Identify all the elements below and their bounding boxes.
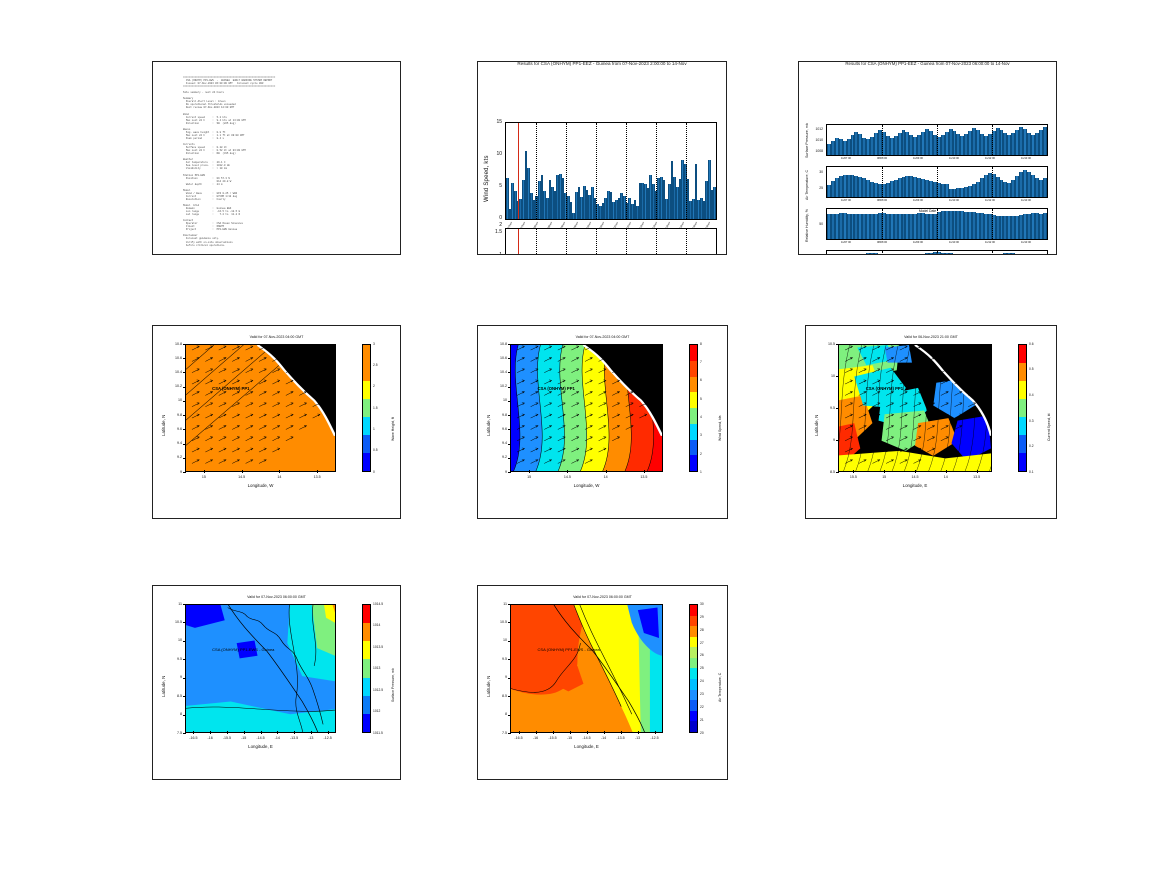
wave-height-map-colorbar-tick: 1: [373, 427, 375, 431]
gridline: [626, 123, 627, 219]
colorbar-segment: [363, 696, 370, 714]
current-speed-map-xtick: 14.5: [903, 475, 927, 479]
surface-pressure-map-axes[interactable]: [185, 604, 336, 733]
colorbar-segment: [690, 345, 697, 361]
air-temperature-map-panel: Valid for 07-Nov-2023 06:00:00 GMTCSA (O…: [477, 585, 728, 780]
tick-mark: [328, 731, 329, 734]
wind-speed-map-colorbar-tick: 6: [700, 378, 702, 382]
air-temperature-map-colorbar-tick: 30: [700, 602, 704, 606]
tick-mark: [508, 429, 511, 430]
colorbar-segment: [690, 605, 697, 616]
tick-mark: [567, 470, 568, 473]
surface-pressure-map-colorbar-tick: 1013.5: [373, 645, 383, 649]
met-ytick: 50: [807, 222, 823, 226]
tick-mark: [946, 470, 947, 473]
tick-mark: [553, 731, 554, 734]
colorbar-segment: [363, 641, 370, 659]
air-temperature-map-colorbar-label: Air Temperature, C: [718, 673, 722, 702]
colorbar-segment: [363, 714, 370, 732]
wave-height-map-colorbar: [362, 344, 371, 472]
wave-height-map-ytick: 10.2: [161, 384, 182, 388]
surface-pressure-map-title: Valid for 07-Nov-2023 06:00:00 GMT: [153, 595, 400, 599]
tick-mark: [183, 733, 186, 734]
colorbar-segment: [363, 363, 370, 381]
air-temperature-map-ytick: 9.5: [486, 657, 507, 661]
wind-speed-map-ytick: 10.6: [486, 356, 507, 360]
tick-mark: [604, 731, 605, 734]
tick-mark: [570, 731, 571, 734]
colorbar-segment: [363, 453, 370, 471]
tick-mark: [508, 358, 511, 359]
surface-pressure-map-colorbar-tick: 1014: [373, 623, 380, 627]
tick-mark: [277, 731, 278, 734]
tick-mark: [183, 472, 186, 473]
tick-mark: [606, 470, 607, 473]
current-speed-map-ytick: 9.5: [814, 406, 835, 410]
gridline: [686, 229, 687, 255]
wave-height-map-title: Valid for 07-Nov-2023 04:00 GMT: [153, 335, 400, 339]
wind-speed-map-colorbar-tick: 3: [700, 433, 702, 437]
gridline: [882, 209, 883, 239]
wind-speed-map-ytick: 9.2: [486, 455, 507, 459]
tick-mark: [915, 470, 916, 473]
current-speed-map-ytick: 9: [814, 438, 835, 442]
colorbar-segment: [363, 659, 370, 677]
tick-mark: [529, 470, 530, 473]
met-xlabel: Model Date: [799, 209, 1056, 213]
tick-mark: [508, 659, 511, 660]
met-xtick: 11/13 00: [1009, 241, 1043, 244]
wind-speed-map-ytick: 10.2: [486, 384, 507, 388]
surface-pressure-map-colorbar-label: Surface Pressure, mb: [391, 668, 395, 702]
tick-mark: [183, 358, 186, 359]
met-xtick: 11/09 00: [901, 157, 935, 160]
colorbar-segment: [1019, 417, 1026, 435]
air-temperature-map-colorbar-tick: 20: [700, 731, 704, 735]
wind-speed-map-ytick: 10.8: [486, 342, 507, 346]
tick-mark: [655, 731, 656, 734]
air-temperature-map-site-label: CSA (ONHYM) PP1-EWS - Guinea: [538, 647, 600, 652]
wind-ytick-3: 15: [488, 119, 502, 125]
gridline: [566, 123, 567, 219]
wave-height-map-xtick: 15: [192, 475, 216, 479]
gridline: [536, 229, 537, 255]
wave-height-map-colorbar-tick: 0.5: [373, 448, 378, 452]
wave-height-map-axes[interactable]: [185, 344, 336, 472]
bar: [1043, 127, 1047, 156]
wave-height-map-colorbar-tick: 2.5: [373, 363, 378, 367]
wave-height-map-ytick: 10.8: [161, 342, 182, 346]
air-temperature-map-colorbar-tick: 21: [700, 718, 704, 722]
colorbar-segment: [363, 399, 370, 417]
tick-mark: [317, 470, 318, 473]
colorbar-segment: [690, 361, 697, 377]
wave-height-map-xtick: 13.5: [305, 475, 329, 479]
met-xtick: 08/08 00: [865, 199, 899, 202]
air-temperature-map-xlabel: Longitude, E: [510, 744, 663, 749]
colorbar-segment: [690, 711, 697, 722]
bar: [1043, 178, 1047, 197]
wind-speed-map-xtick: 15: [517, 475, 541, 479]
wave-height-map-xtick: 14: [267, 475, 291, 479]
tick-mark: [508, 387, 511, 388]
wind-speed-map-colorbar-tick: 8: [700, 342, 702, 346]
wind-speed-map-ytick: 10: [486, 398, 507, 402]
tick-mark: [508, 733, 511, 734]
met-axes-1: [826, 166, 1048, 198]
tick-mark: [204, 470, 205, 473]
tick-mark: [884, 470, 885, 473]
colorbar-segment: [690, 679, 697, 690]
colorbar-segment: [1019, 435, 1026, 453]
tick-mark: [587, 731, 588, 734]
current-time-marker: [518, 229, 519, 255]
tick-mark: [508, 401, 511, 402]
tick-mark: [836, 440, 839, 441]
colorbar-segment: [690, 392, 697, 408]
colorbar-segment: [363, 345, 370, 363]
met-xtick: 11/09 00: [901, 241, 935, 244]
current-speed-map-axes[interactable]: [838, 344, 992, 472]
met-xtick: 11/07 00: [829, 241, 863, 244]
wave-height-map-ytick: 10.6: [161, 356, 182, 360]
met-ylabel: Air Temperature, C: [805, 170, 809, 200]
current-time-marker: [518, 123, 519, 219]
current-speed-map-ytick: 8.5: [814, 470, 835, 474]
bar: [1043, 213, 1047, 239]
surface-pressure-map-xlabel: Longitude, E: [185, 744, 336, 749]
tick-mark: [183, 458, 186, 459]
tick-mark: [183, 401, 186, 402]
wind-speed-map-ytick: 9: [486, 470, 507, 474]
wind-speed-map-panel: Valid for 07-Nov-2023 04:00 GMTCSA (ONHY…: [477, 325, 728, 519]
wind-speed-map-colorbar-tick: 5: [700, 397, 702, 401]
tick-mark: [227, 731, 228, 734]
colorbar-segment: [690, 658, 697, 669]
wind-speed-map-ytick: 9.4: [486, 441, 507, 445]
gridline: [937, 125, 938, 155]
bar-series: [506, 229, 716, 255]
met-axes-0: [826, 124, 1048, 156]
bar: [1000, 254, 1004, 255]
bar: [953, 254, 957, 255]
gridline: [882, 251, 883, 255]
gridline: [656, 123, 657, 219]
wave-height-map-colorbar-tick: 1.5: [373, 406, 378, 410]
bar: [713, 187, 716, 219]
tick-mark: [183, 387, 186, 388]
colorbar-segment: [690, 424, 697, 440]
gridline: [596, 123, 597, 219]
gridline: [686, 123, 687, 219]
surface-pressure-map-site-label: CSA (ONHYM) PP1-EWS - Guinea: [212, 647, 274, 652]
colorbar-segment: [690, 626, 697, 637]
colorbar-segment: [363, 381, 370, 399]
met-title: Results for CSA (ONHYM) PP1-EEZ - Guinea…: [799, 61, 1056, 66]
tick-mark: [183, 415, 186, 416]
gridline: [992, 167, 993, 197]
current-speed-map-colorbar-label: Current Speed, kt: [1047, 414, 1051, 441]
met-xtick: 11/12 00: [973, 241, 1007, 244]
colorbar-segment: [1019, 381, 1026, 399]
current-speed-map-colorbar: [1018, 344, 1027, 472]
current-speed-map-site-label: CSA (ONHYM) PP1: [866, 386, 903, 391]
current-speed-map-ytick: 10.5: [814, 342, 835, 346]
colorbar-segment: [1019, 363, 1026, 381]
tick-mark: [508, 604, 511, 605]
tick-mark: [508, 372, 511, 373]
tick-mark: [508, 678, 511, 679]
gridline: [992, 251, 993, 255]
wave-height-map-colorbar-label: Wave Height, ft: [391, 417, 395, 441]
wave-height-map-xtick: 14.5: [230, 475, 254, 479]
tick-mark: [508, 344, 511, 345]
wind-speed-map-xtick: 14: [594, 475, 618, 479]
tick-mark: [836, 472, 839, 473]
wind-speed-map-colorbar: [689, 344, 698, 472]
wind-speed-ylabel: Wind Speed, kts: [484, 155, 490, 202]
tick-mark: [508, 444, 511, 445]
tick-mark: [261, 731, 262, 734]
gridline: [882, 125, 883, 155]
wave-height-map-site-label: CSA (ONHYM) PP1: [212, 386, 249, 391]
met-xtick: 11/10 00: [937, 199, 971, 202]
air-temperature-map-title: Valid for 07-Nov-2023 06:00:00 GMT: [478, 595, 727, 599]
tick-mark: [242, 470, 243, 473]
wave-height-map-colorbar-tick: 0: [373, 470, 375, 474]
met-xtick: 11/10 00: [937, 241, 971, 244]
wave-height-map-ylabel: Latitude, N: [161, 415, 166, 436]
wave-height-map-colorbar-tick: 2: [373, 384, 375, 388]
tick-mark: [536, 731, 537, 734]
tick-mark: [508, 641, 511, 642]
tick-mark: [183, 696, 186, 697]
wave-ytick-3: 1.5: [486, 229, 502, 235]
wave-height-map-colorbar-tick: 3: [373, 342, 375, 346]
met-ytick: 1008: [807, 149, 823, 153]
current-speed-map-colorbar-tick: 0.3: [1029, 419, 1034, 423]
colorbar-segment: [363, 623, 370, 641]
gridline: [937, 167, 938, 197]
air-temperature-map-colorbar-tick: 22: [700, 705, 704, 709]
met-xtick: 11/12 00: [973, 199, 1007, 202]
gridline: [992, 209, 993, 239]
bar-series: [506, 123, 716, 219]
surface-pressure-map-ytick: 8: [161, 712, 182, 716]
tick-mark: [853, 470, 854, 473]
met-ytick: 1010: [807, 138, 823, 142]
surface-pressure-map-colorbar-tick: 1012.5: [373, 688, 383, 692]
tick-mark: [294, 731, 295, 734]
current-speed-map-colorbar-tick: 0.6: [1029, 342, 1034, 346]
gridline: [656, 229, 657, 255]
air-temperature-map-colorbar-tick: 27: [700, 641, 704, 645]
met-xtick: 11/09 00: [901, 199, 935, 202]
tick-mark: [508, 415, 511, 416]
air-temperature-map-colorbar: [689, 604, 698, 733]
air-temperature-map-colorbar-tick: 23: [700, 692, 704, 696]
wind-speed-map-title: Valid for 07-Nov-2023 04:00 GMT: [478, 335, 727, 339]
wind-speed-map-xtick: 13.5: [632, 475, 656, 479]
gridline: [536, 123, 537, 219]
surface-pressure-map-panel: Valid for 07-Nov-2023 06:00:00 GMTCSA (O…: [152, 585, 401, 780]
colorbar-segment: [690, 690, 697, 701]
met-axes-3: [826, 250, 1048, 255]
tick-mark: [508, 622, 511, 623]
air-temperature-map-colorbar-tick: 24: [700, 679, 704, 683]
air-temperature-map-ytick: 8: [486, 712, 507, 716]
wind-speed-map-site-label: CSA (ONHYM) PP1: [538, 386, 575, 391]
wave-ytick-2: 1: [486, 252, 502, 255]
air-temperature-map-colorbar-tick: 26: [700, 653, 704, 657]
air-temperature-map-ylabel: Latitude, N: [486, 676, 491, 697]
gridline: [882, 167, 883, 197]
wind-speed-map-colorbar-tick: 2: [700, 452, 702, 456]
current-speed-map-xlabel: Longitude, E: [838, 483, 992, 488]
current-speed-map-colorbar-tick: 0.1: [1029, 470, 1034, 474]
wind-ytick-2: 10: [488, 151, 502, 157]
air-temperature-map-ytick: 11: [486, 602, 507, 606]
current-speed-map-xtick: 13.5: [965, 475, 989, 479]
colorbar-segment: [690, 637, 697, 648]
tick-mark: [183, 715, 186, 716]
text-report-panel: ========================================…: [152, 61, 401, 255]
current-speed-map-xtick: 15: [872, 475, 896, 479]
wind-speed-map-ylabel: Latitude, N: [486, 415, 491, 436]
tick-mark: [183, 641, 186, 642]
air-temperature-map-axes[interactable]: [510, 604, 663, 733]
wave-height-map-ytick: 10.4: [161, 370, 182, 374]
tick-mark: [311, 731, 312, 734]
colorbar-segment: [690, 455, 697, 471]
surface-pressure-map-ytick: 11: [161, 602, 182, 606]
met-xtick: 11/13 00: [1009, 199, 1043, 202]
tick-mark: [279, 470, 280, 473]
wind-speed-map-colorbar-tick: 1: [700, 470, 702, 474]
met-ytick: 25: [807, 186, 823, 190]
tick-mark: [183, 372, 186, 373]
surface-pressure-map-colorbar-tick: 1014.5: [373, 602, 383, 606]
surface-pressure-map-ytick: 10: [161, 638, 182, 642]
colorbar-segment: [690, 668, 697, 679]
colorbar-segment: [690, 700, 697, 711]
bar: [862, 254, 866, 255]
surface-pressure-map-colorbar: [362, 604, 371, 733]
surface-pressure-map-colorbar-tick: 1011.5: [373, 731, 383, 735]
gridline: [992, 125, 993, 155]
tick-mark: [508, 696, 511, 697]
tick-mark: [836, 344, 839, 345]
wind-speed-map-colorbar-tick: 7: [700, 360, 702, 364]
tick-mark: [836, 408, 839, 409]
current-speed-map-ytick: 10: [814, 374, 835, 378]
met-xtick: 08/08 00: [865, 157, 899, 160]
report-page: ========================================…: [0, 0, 1167, 875]
tick-mark: [621, 731, 622, 734]
colorbar-segment: [1019, 345, 1026, 363]
tick-mark: [977, 470, 978, 473]
wind-speed-map-axes[interactable]: [510, 344, 663, 472]
tick-mark: [508, 458, 511, 459]
wave-height-map-panel: Valid for 07-Nov-2023 04:00 GMTCSA (ONHY…: [152, 325, 401, 519]
current-speed-map-ylabel: Latitude, N: [814, 415, 819, 436]
report-text: ========================================…: [183, 76, 394, 250]
surface-pressure-map-ylabel: Latitude, N: [161, 676, 166, 697]
wind-ytick-0: 0: [488, 215, 502, 221]
colorbar-segment: [363, 417, 370, 435]
gridline: [566, 229, 567, 255]
colorbar-segment: [690, 647, 697, 658]
wind-speed-map-colorbar-label: Wind Speed, kts: [718, 416, 722, 441]
wind-ytick-1: 5: [488, 183, 502, 189]
colorbar-segment: [690, 616, 697, 627]
met-xtick: 08/08 00: [865, 241, 899, 244]
tick-mark: [183, 659, 186, 660]
wind-speed-map-colorbar-tick: 4: [700, 415, 702, 419]
current-speed-map-colorbar-tick: 0.4: [1029, 393, 1034, 397]
tick-mark: [508, 715, 511, 716]
tick-mark: [638, 731, 639, 734]
wave-height-map-xlabel: Longitude, W: [185, 483, 336, 488]
wave-height-map-ytick: 9: [161, 470, 182, 474]
air-temperature-map-ytick: 7.5: [486, 731, 507, 735]
tick-mark: [644, 470, 645, 473]
tick-mark: [183, 429, 186, 430]
wind-speed-map-xlabel: Longitude, W: [510, 483, 663, 488]
current-speed-map-xtick: 15.5: [841, 475, 865, 479]
tick-mark: [836, 376, 839, 377]
wave-height-axes: [505, 228, 717, 255]
wind-wave-title: Results for CSA (ONHYM) PP1-EEZ - Guinea…: [478, 61, 726, 66]
air-temperature-map-ytick: 10: [486, 638, 507, 642]
surface-pressure-map-colorbar-tick: 1013: [373, 666, 380, 670]
tick-mark: [508, 472, 511, 473]
wind-speed-map-xtick: 14.5: [555, 475, 579, 479]
colorbar-segment: [690, 440, 697, 456]
gridline: [596, 229, 597, 255]
tick-mark: [183, 622, 186, 623]
met-ytick: 1012: [807, 127, 823, 131]
surface-pressure-map-colorbar-tick: 1012: [373, 709, 380, 713]
wind-speed-map-ytick: 10.4: [486, 370, 507, 374]
met-ytick: 30: [807, 170, 823, 174]
air-temperature-map-colorbar-tick: 29: [700, 615, 704, 619]
gridline: [937, 251, 938, 255]
met-xtick: 11/07 00: [829, 157, 863, 160]
colorbar-segment: [690, 377, 697, 393]
wave-height-map-ytick: 10: [161, 398, 182, 402]
current-speed-map-xtick: 14: [934, 475, 958, 479]
surface-pressure-map-ytick: 9.5: [161, 657, 182, 661]
surface-pressure-map-xtick: -12.5: [316, 736, 340, 740]
met-xtick: 11/10 00: [937, 157, 971, 160]
colorbar-segment: [690, 408, 697, 424]
air-temperature-map-colorbar-tick: 28: [700, 628, 704, 632]
current-speed-map-colorbar-tick: 0.5: [1029, 367, 1034, 371]
air-temperature-map-xtick: -12.5: [643, 736, 667, 740]
surface-pressure-map-ytick: 10.5: [161, 620, 182, 624]
tick-mark: [519, 731, 520, 734]
met-timeseries-panel: Results for CSA (ONHYM) PP1-EEZ - Guinea…: [798, 61, 1057, 255]
air-temperature-map-ytick: 10.5: [486, 620, 507, 624]
met-xtick: 11/12 00: [973, 157, 1007, 160]
surface-pressure-map-ytick: 7.5: [161, 731, 182, 735]
air-temperature-map-colorbar-tick: 25: [700, 666, 704, 670]
tick-mark: [183, 444, 186, 445]
tick-mark: [183, 604, 186, 605]
current-speed-map-panel: Valid for 06-Nov-2023 21:00 GMTCSA (ONHY…: [805, 325, 1057, 519]
met-xtick: 11/07 00: [829, 199, 863, 202]
